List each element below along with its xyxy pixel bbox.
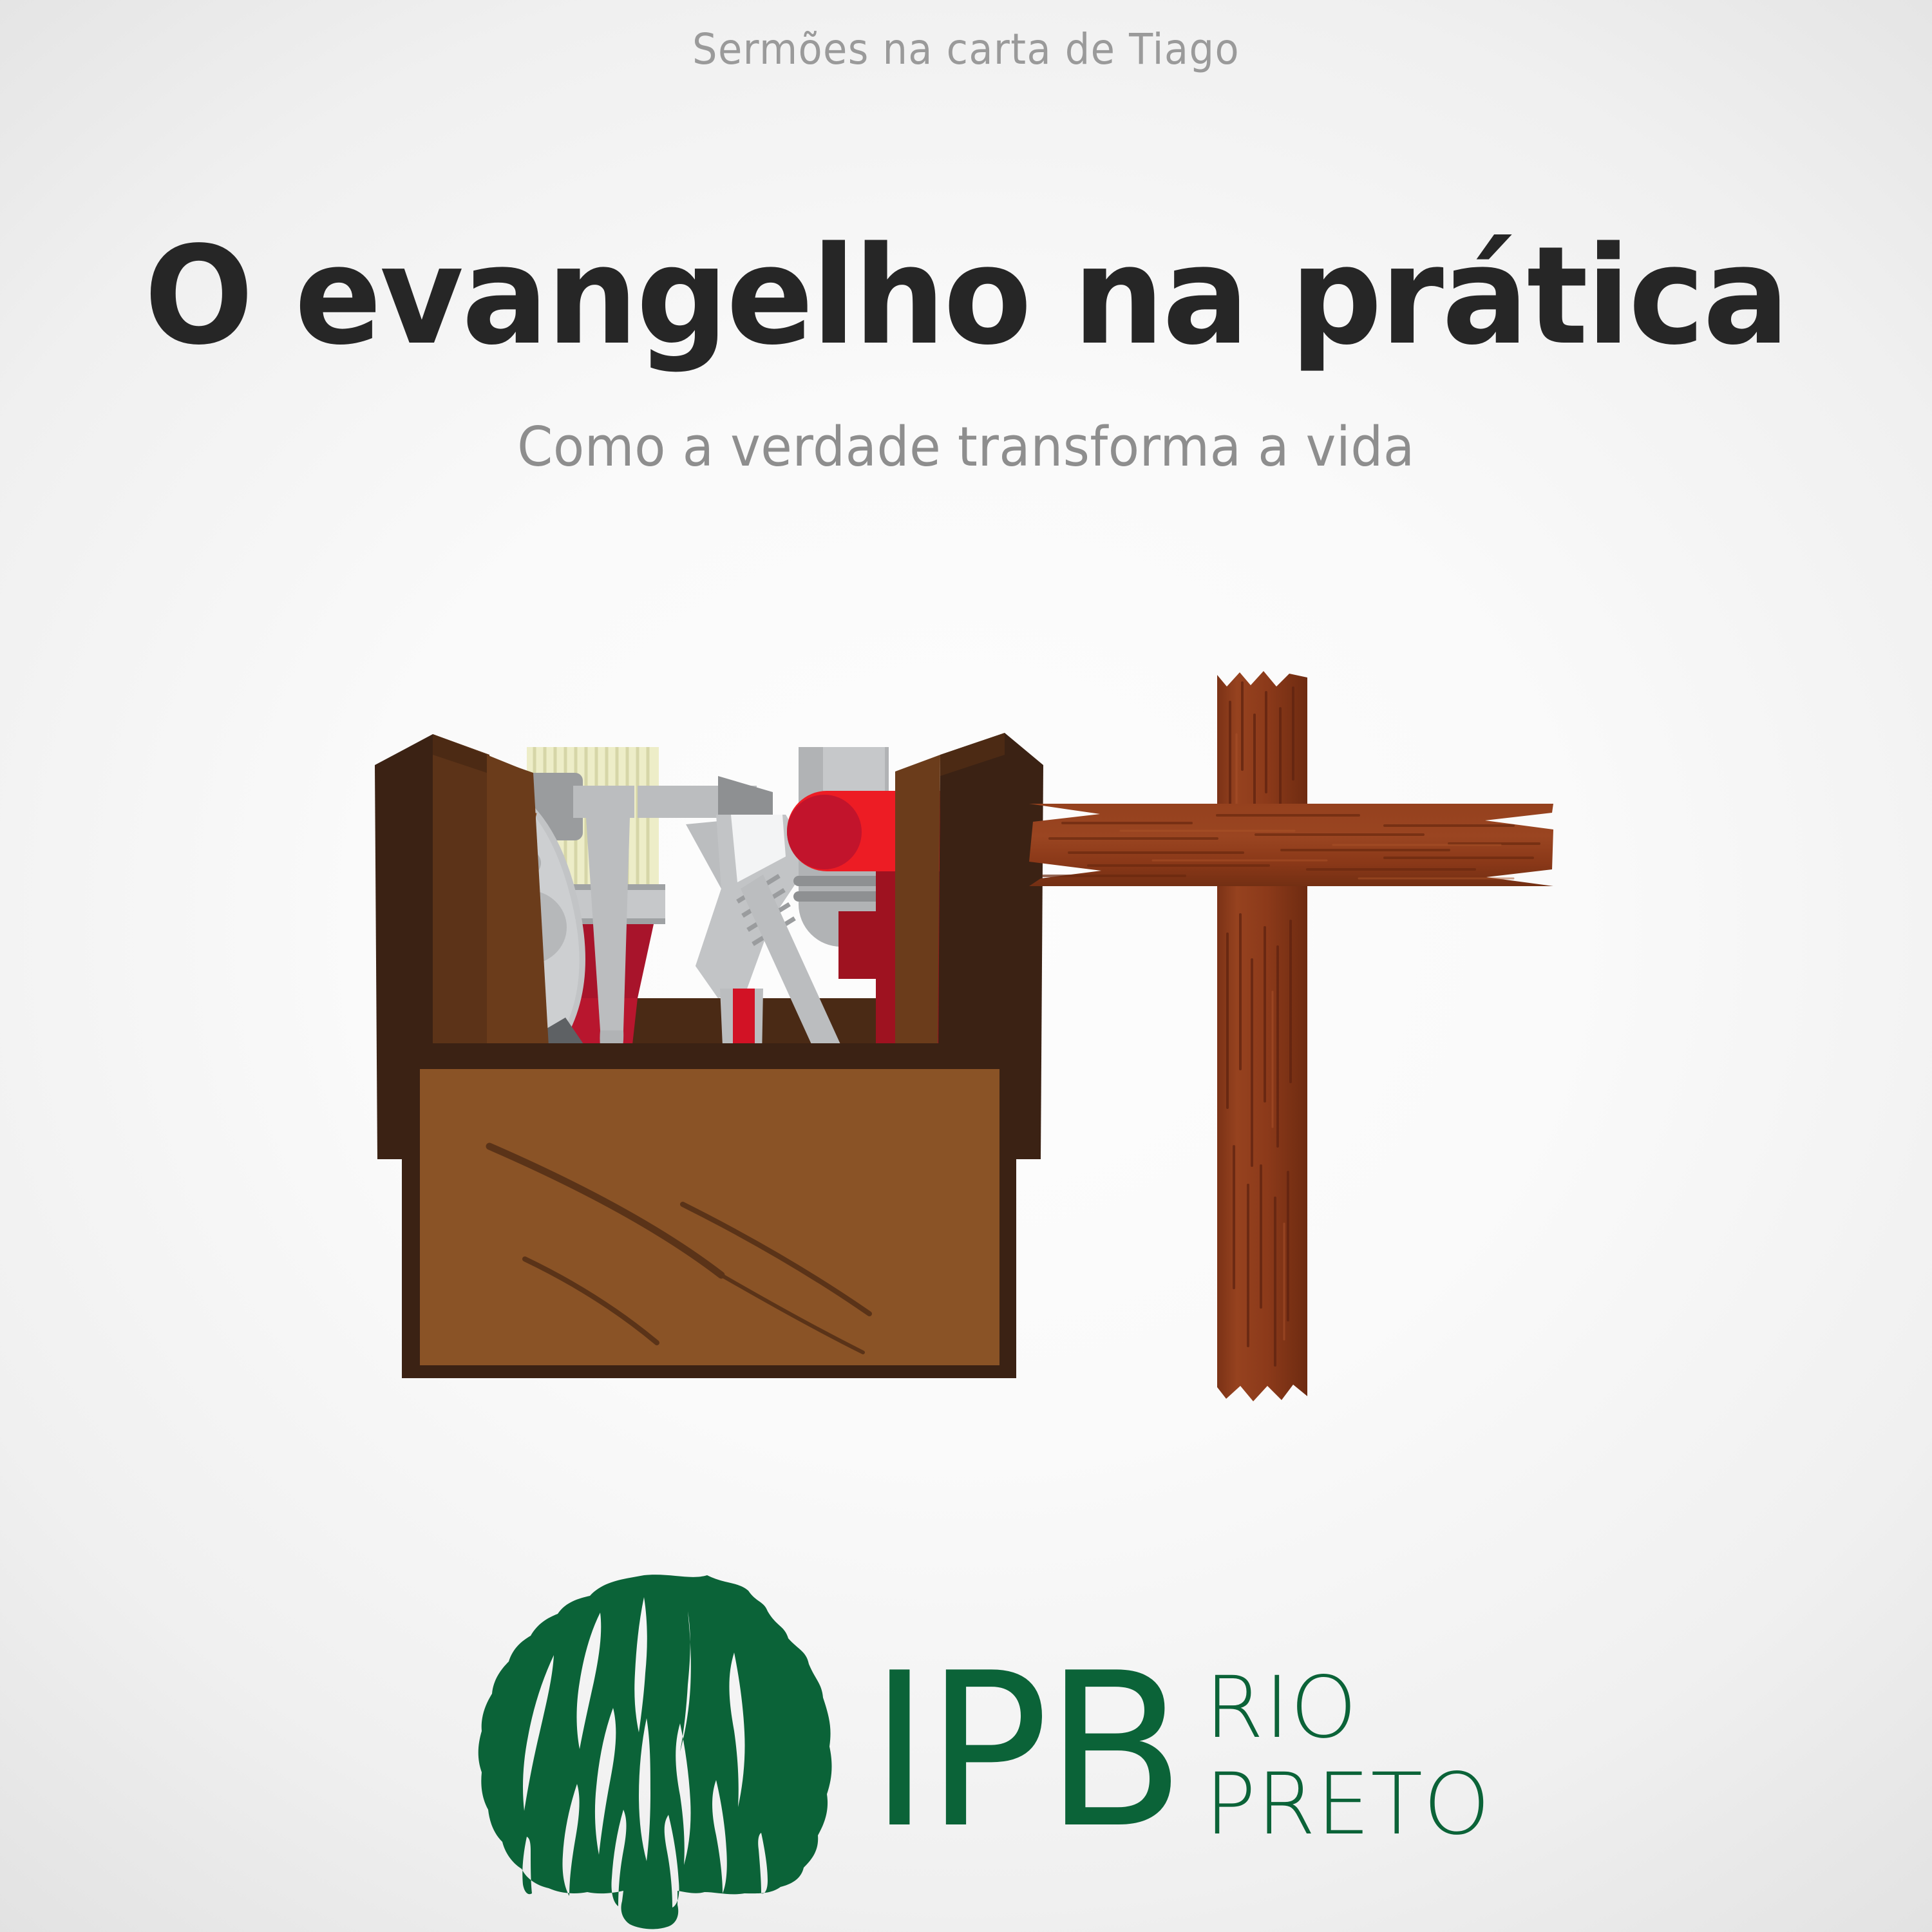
- poster-canvas: Sermões na carta de Tiago O evangelho na…: [0, 0, 1932, 1932]
- logo-wordmark: IPB RIO PRETO: [863, 1651, 1491, 1853]
- wooden-cross-illustration: [1024, 657, 1558, 1417]
- burning-bush-icon: [451, 1571, 837, 1932]
- series-kicker: Sermões na carta de Tiago: [77, 24, 1855, 74]
- logo-city: RIO PRETO: [1205, 1651, 1491, 1853]
- ipb-logo: IPB RIO PRETO: [451, 1571, 1494, 1932]
- toolbox-illustration: [361, 696, 1056, 1410]
- logo-city-line2: PRETO: [1205, 1756, 1491, 1853]
- page-title: O evangelho na prática: [48, 229, 1884, 364]
- page-subtitle: Como a verdade transforma a vida: [68, 415, 1864, 479]
- logo-city-line1: RIO: [1205, 1660, 1491, 1756]
- logo-acronym: IPB: [869, 1654, 1182, 1850]
